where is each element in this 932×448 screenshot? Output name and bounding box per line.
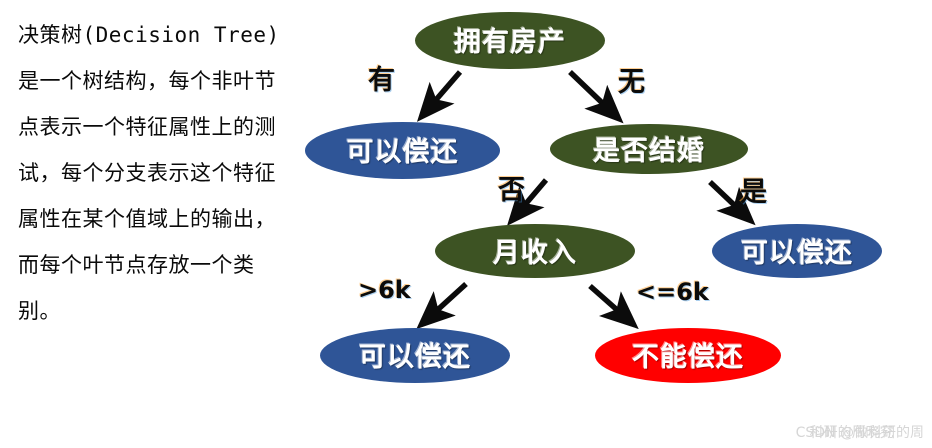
tree-node-married: 是否结婚 (550, 124, 748, 174)
tree-edge-income-le6k-label: <=6k (636, 278, 709, 306)
tree-node-income: 月收入 (435, 224, 635, 278)
tree-edge-root-no-label: 无 (618, 60, 645, 99)
tree-node-label: 不能偿还 (632, 335, 744, 374)
tree-edge-married-yes-label: 是 (740, 170, 767, 209)
explanation-paragraph: 决策树(Decision Tree)是一个树结构，每个非叶节点表示一个特征属性上… (18, 12, 290, 334)
tree-node-leaf-yes-2: 可以偿还 (712, 224, 882, 278)
tree-node-label: 月收入 (493, 231, 577, 270)
tree-node-label: 拥有房产 (454, 20, 566, 59)
tree-node-leaf-no: 不能偿还 (595, 328, 781, 383)
tree-node-label: 可以偿还 (741, 231, 853, 270)
tree-node-label: 可以偿还 (359, 335, 471, 374)
tree-node-leaf-yes-3: 可以偿还 (320, 328, 510, 383)
tree-edge-income-gt6k-label: >6k (358, 276, 411, 304)
tree-edge-married-no-label: 否 (498, 168, 525, 207)
decision-tree-diagram: 拥有房产可以偿还是否结婚月收入可以偿还可以偿还不能偿还 有无否是>6k<=6k (300, 0, 932, 448)
decision-tree-illustration: 决策树(Decision Tree)是一个树结构，每个非叶节点表示一个特征属性上… (0, 0, 932, 448)
csdn-watermark: CSDN @做科研的周 科研的周晓究 (796, 422, 924, 442)
tree-node-root: 拥有房产 (415, 12, 605, 69)
tree-edge-root-no (570, 72, 618, 118)
tree-edge-root-yes (422, 72, 460, 116)
explanation-panel: 决策树(Decision Tree)是一个树结构，每个非叶节点表示一个特征属性上… (0, 0, 300, 448)
tree-edge-income-gt6k (422, 284, 466, 324)
tree-edge-root-yes-label: 有 (368, 58, 395, 97)
tree-node-label: 是否结婚 (593, 129, 705, 168)
watermark-text-secondary: 科研的周晓究 (810, 422, 894, 442)
tree-node-leaf-yes-1: 可以偿还 (305, 122, 500, 179)
tree-node-label: 可以偿还 (347, 130, 459, 169)
tree-edge-income-le6k (590, 286, 633, 324)
